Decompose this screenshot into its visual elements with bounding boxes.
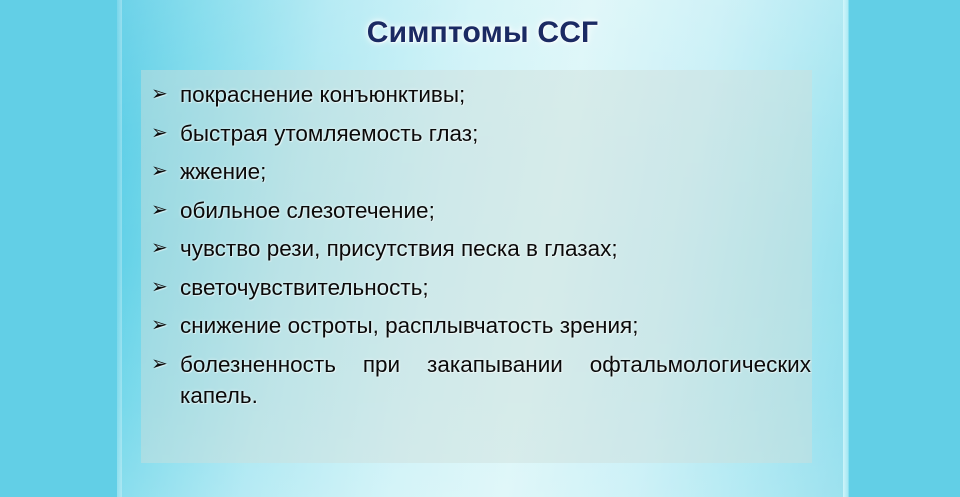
list-item-label: чувство рези, присутствия песка в глазах… xyxy=(180,233,811,264)
list-item: ➢ обильное слезотечение; xyxy=(151,195,811,226)
arrowhead-bullet-icon: ➢ xyxy=(151,349,168,380)
symptom-list: ➢ покраснение конъюнктивы; ➢ быстрая уто… xyxy=(151,79,811,418)
list-item: ➢ быстрая утомляемость глаз; xyxy=(151,118,811,149)
content-right-edge-strip xyxy=(843,0,849,497)
content-left-edge-strip xyxy=(117,0,122,497)
list-item-label: снижение остроты, расплывчатость зрения; xyxy=(180,310,811,341)
list-item-label: жжение; xyxy=(180,156,811,187)
arrowhead-bullet-icon: ➢ xyxy=(151,118,168,149)
list-item: ➢ чувство рези, присутствия песка в глаз… xyxy=(151,233,811,264)
list-item-label: болезненность при закапывании офтальмоло… xyxy=(180,349,811,411)
list-item: ➢ покраснение конъюнктивы; xyxy=(151,79,811,110)
list-item-label: быстрая утомляемость глаз; xyxy=(180,118,811,149)
slide-canvas: Симптомы ССГ ➢ покраснение конъюнктивы; … xyxy=(0,0,960,497)
arrowhead-bullet-icon: ➢ xyxy=(151,195,168,226)
list-item: ➢ жжение; xyxy=(151,156,811,187)
arrowhead-bullet-icon: ➢ xyxy=(151,156,168,187)
list-item: ➢ болезненность при закапывании офтальмо… xyxy=(151,349,811,411)
arrowhead-bullet-icon: ➢ xyxy=(151,79,168,110)
list-item-label: покраснение конъюнктивы; xyxy=(180,79,811,110)
arrowhead-bullet-icon: ➢ xyxy=(151,310,168,341)
arrowhead-bullet-icon: ➢ xyxy=(151,233,168,264)
list-item: ➢ светочувствительность; xyxy=(151,272,811,303)
page-title: Симптомы ССГ xyxy=(117,16,848,50)
list-item-label: светочувствительность; xyxy=(180,272,811,303)
arrowhead-bullet-icon: ➢ xyxy=(151,272,168,303)
list-item: ➢ снижение остроты, расплывчатость зрени… xyxy=(151,310,811,341)
list-item-label: обильное слезотечение; xyxy=(180,195,811,226)
